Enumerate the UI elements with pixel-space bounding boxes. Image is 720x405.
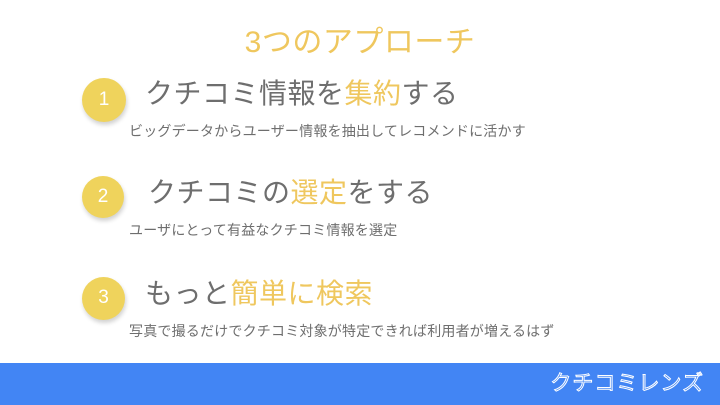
approach-heading: もっと簡単に検索 [145,274,373,314]
heading-text-before: もっと [145,278,231,309]
approach-list: 1 クチコミ情報を集約する ビッグデータからユーザー情報を抽出してレコメンドに活… [0,74,720,374]
approach-heading: クチコミの選定をする [148,173,433,213]
heading-text-highlight: 簡単に検索 [231,278,374,309]
approach-item: 2 クチコミの選定をする ユーザにとって有益なクチコミ情報を選定 [0,174,720,274]
step-number-label: 2 [98,187,109,206]
heading-text-after: をする [348,177,434,208]
heading-text-before: クチコミ情報を [145,78,345,109]
approach-subtitle: 写真で撮るだけでクチコミ対象が特定できれば利用者が増えるはず [129,321,555,341]
footer-bar: クチコミレンズ [0,363,720,405]
step-number-label: 3 [98,288,109,307]
step-badge-1: 1 [82,78,126,122]
heading-text-highlight: 選定 [291,177,348,208]
step-badge-2: 2 [82,176,124,218]
heading-text-after: する [402,78,459,109]
slide-canvas: 3つのアプローチ 1 クチコミ情報を集約する ビッグデータからユーザー情報を抽出… [0,0,720,405]
approach-item: 1 クチコミ情報を集約する ビッグデータからユーザー情報を抽出してレコメンドに活… [0,74,720,174]
page-title: 3つのアプローチ [0,26,720,60]
step-badge-3: 3 [82,277,125,320]
approach-item: 3 もっと簡単に検索 写真で撮るだけでクチコミ対象が特定できれば利用者が増えるは… [0,274,720,374]
heading-text-before: クチコミの [148,177,291,208]
approach-heading: クチコミ情報を集約する [145,74,459,114]
approach-subtitle: ユーザにとって有益なクチコミ情報を選定 [129,220,397,240]
step-number-label: 1 [99,90,110,109]
heading-text-highlight: 集約 [345,78,402,109]
brand-logo-text: クチコミレンズ [550,372,704,396]
approach-subtitle: ビッグデータからユーザー情報を抽出してレコメンドに活かす [129,121,526,141]
